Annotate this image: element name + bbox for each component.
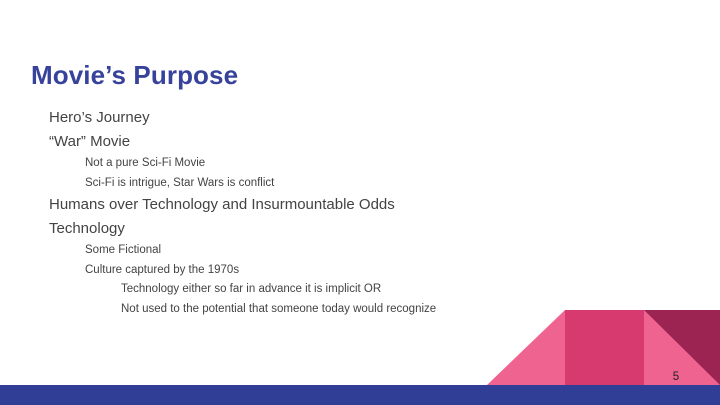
page-title: Movie’s Purpose	[31, 59, 238, 91]
outline-item-level2: Some Fictional	[85, 241, 660, 261]
outline-item-level2: Culture captured by the 1970s	[85, 261, 660, 281]
outline-item-level1: Humans over Technology and Insurmountabl…	[49, 193, 660, 217]
outline-item-level1: “War” Movie	[49, 130, 660, 154]
deco-triangle-light-pink	[487, 310, 565, 385]
outline-item-level3: Technology either so far in advance it i…	[121, 280, 660, 300]
outline-item-level1: Technology	[49, 217, 660, 241]
outline-body: Hero’s Journey “War” Movie Not a pure Sc…	[0, 106, 660, 319]
outline-item-level2: Sci-Fi is intrigue, Star Wars is conflic…	[85, 174, 660, 194]
deco-rect-dark-pink	[565, 310, 644, 385]
page-number: 5	[664, 370, 688, 384]
outline-item-level1: Hero’s Journey	[49, 106, 660, 130]
outline-item-level2: Not a pure Sci-Fi Movie	[85, 154, 660, 174]
bottom-accent-bar	[0, 385, 720, 405]
slide-canvas: Movie’s Purpose Hero’s Journey “War” Mov…	[0, 0, 720, 405]
